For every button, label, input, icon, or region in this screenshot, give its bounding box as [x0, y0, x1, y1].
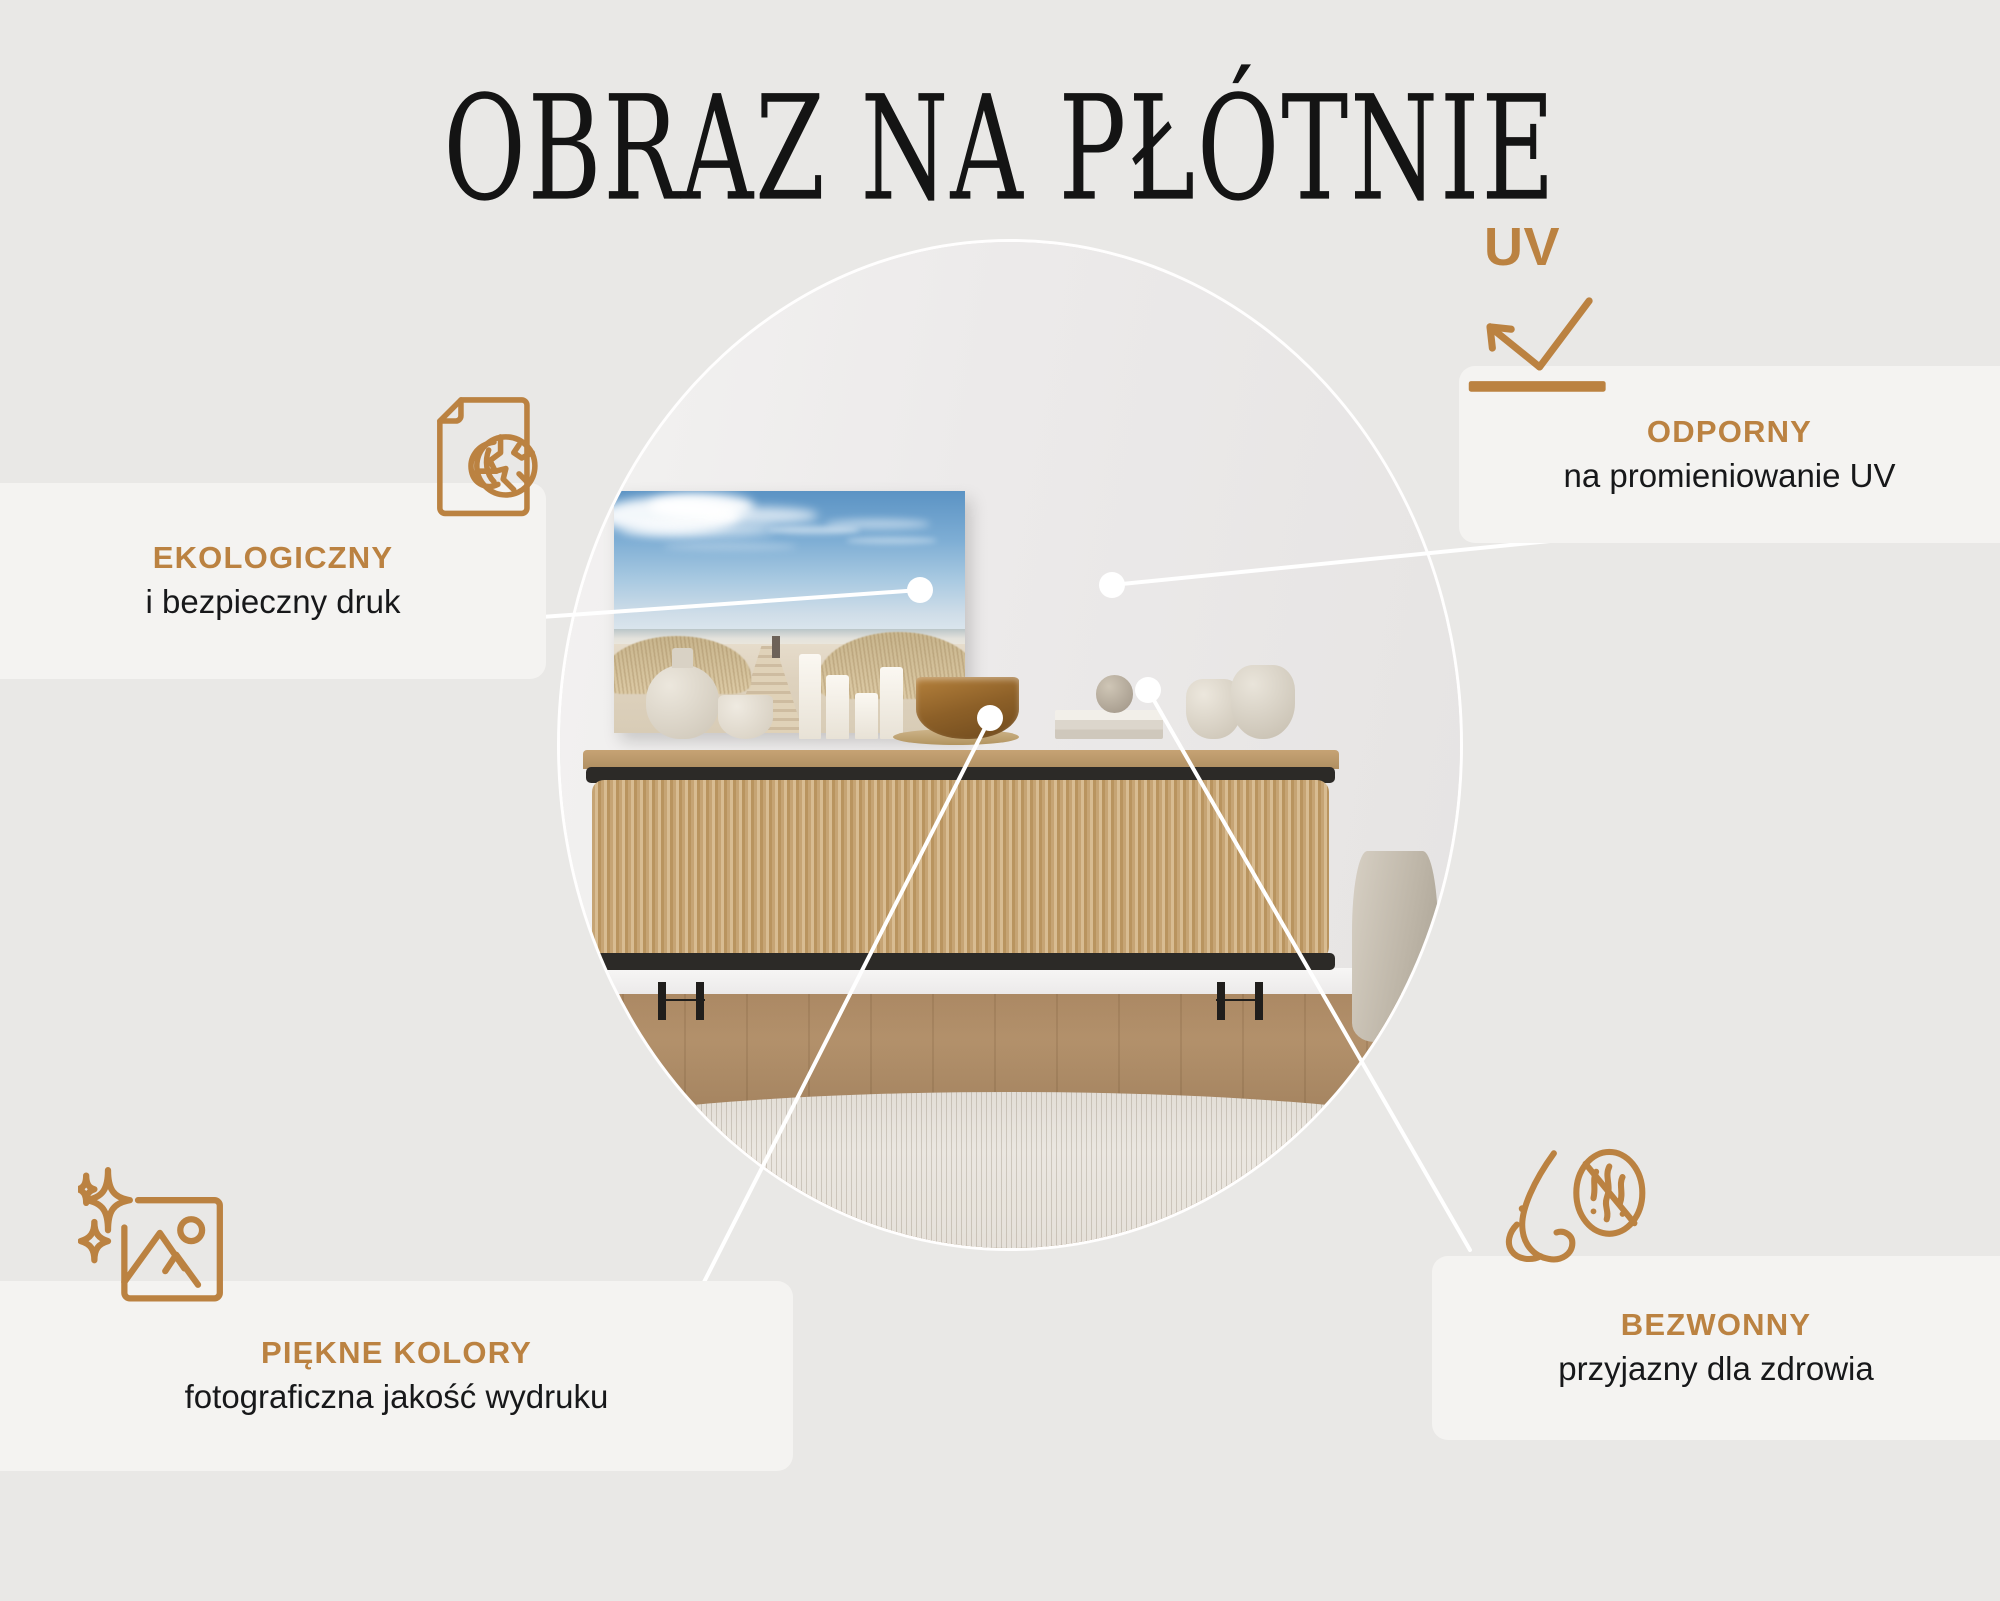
- feature-card-odor: BEZWONNY przyjazny dla zdrowia: [1432, 1256, 2000, 1440]
- sideboard-brace: [658, 999, 705, 1001]
- feature-caption-uv: ODPORNY: [1647, 414, 1812, 450]
- feature-caption-eco: EKOLOGICZNY: [153, 540, 394, 576]
- decor-candle: [855, 693, 878, 739]
- scene-circle-mask: [560, 242, 1460, 1248]
- sideboard-leg: [1217, 982, 1225, 1021]
- decor-small-bowl: [718, 695, 774, 739]
- decor-candle: [799, 654, 822, 739]
- feature-card-colors: PIĘKNE KOLORY fotograficzna jakość wydru…: [0, 1281, 793, 1471]
- feature-subtitle-odor: przyjazny dla zdrowia: [1558, 1349, 1873, 1389]
- decor-candle: [826, 675, 849, 739]
- feature-caption-odor: BEZWONNY: [1621, 1307, 1811, 1343]
- floor-vase: [1352, 851, 1438, 1042]
- artwork-sky: [614, 491, 965, 633]
- sideboard: [583, 750, 1339, 991]
- uv-reflection-icon: [1463, 282, 1635, 400]
- area-rug: [560, 1092, 1460, 1248]
- sideboard-leg: [1255, 982, 1263, 1021]
- sideboard-leg: [658, 982, 666, 1021]
- document-leaf-globe-icon: [424, 392, 556, 524]
- sideboard-brace: [1216, 999, 1263, 1001]
- photo-sparkle-icon: [78, 1167, 228, 1307]
- feature-caption-colors: PIĘKNE KOLORY: [261, 1335, 532, 1371]
- feature-subtitle-eco: i bezpieczny druk: [146, 582, 401, 622]
- poster-root: OBRAZ NA PŁÓTNIE: [0, 0, 2000, 1601]
- artwork-post: [772, 636, 780, 658]
- decor-ceramic-vessel: [1231, 665, 1296, 739]
- sideboard-fluted-front: [592, 780, 1330, 959]
- decor-sphere: [1096, 675, 1134, 713]
- feature-subtitle-colors: fotograficzna jakość wydruku: [185, 1377, 609, 1417]
- decor-books: [1055, 710, 1163, 739]
- feature-subtitle-uv: na promieniowanie UV: [1563, 456, 1895, 496]
- decor-round-vase: [646, 665, 720, 739]
- page-title: OBRAZ NA PŁÓTNIE: [70, 78, 1930, 223]
- uv-label: UV: [1484, 216, 1560, 278]
- nose-no-smell-icon: [1500, 1148, 1650, 1280]
- decor-candle: [880, 667, 903, 739]
- product-scene: [560, 242, 1460, 1248]
- decor-brass-bowl: [916, 677, 1020, 739]
- sideboard-leg: [696, 982, 704, 1021]
- sideboard-lower-rail: [586, 953, 1334, 970]
